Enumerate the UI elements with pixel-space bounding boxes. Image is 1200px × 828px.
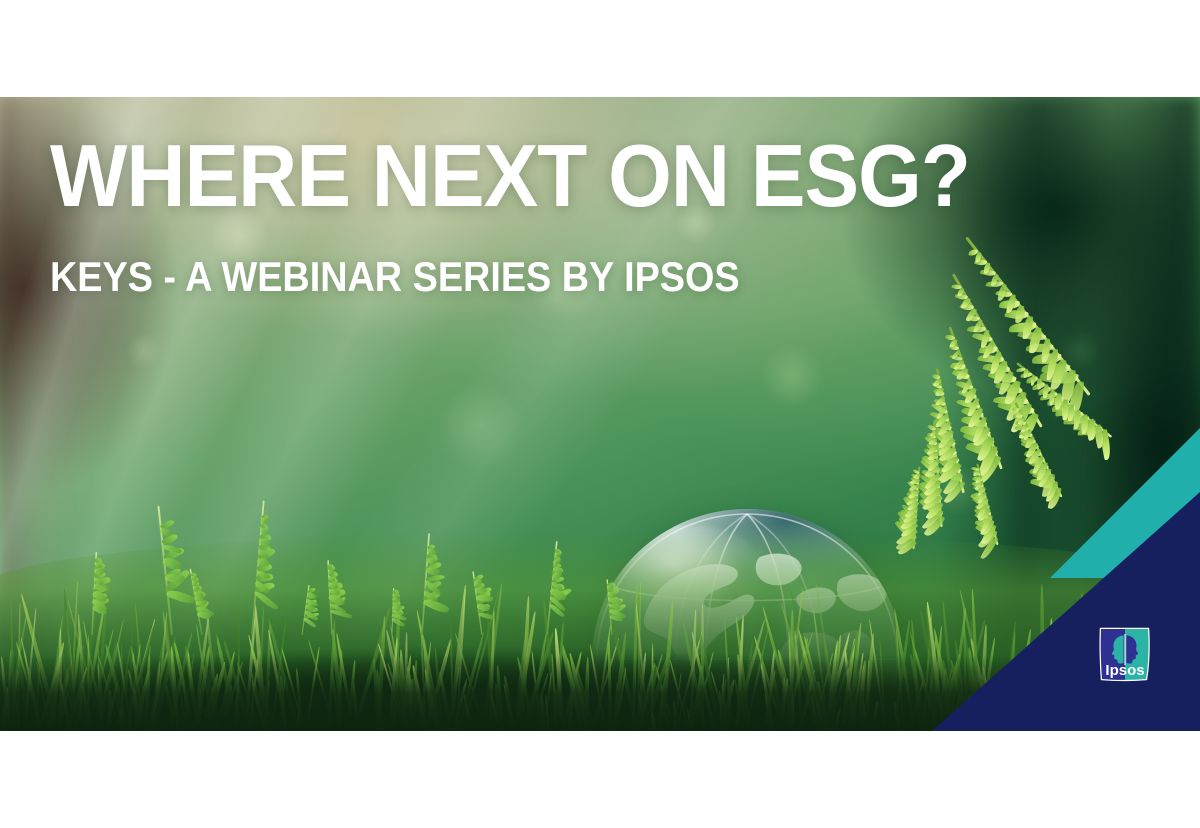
esg-webinar-banner: WHERE NEXT ON ESG? KEYS - A WEBINAR SERI… (0, 0, 1200, 828)
page-subtitle: KEYS - A WEBINAR SERIES BY IPSOS (50, 256, 740, 298)
soil (0, 655, 1200, 731)
ipsos-logo[interactable]: Ipsos (1098, 627, 1152, 682)
page-title: WHERE NEXT ON ESG? (50, 134, 980, 218)
logo-wordmark: Ipsos (1105, 662, 1144, 679)
logo-center-divider (1124, 634, 1125, 665)
